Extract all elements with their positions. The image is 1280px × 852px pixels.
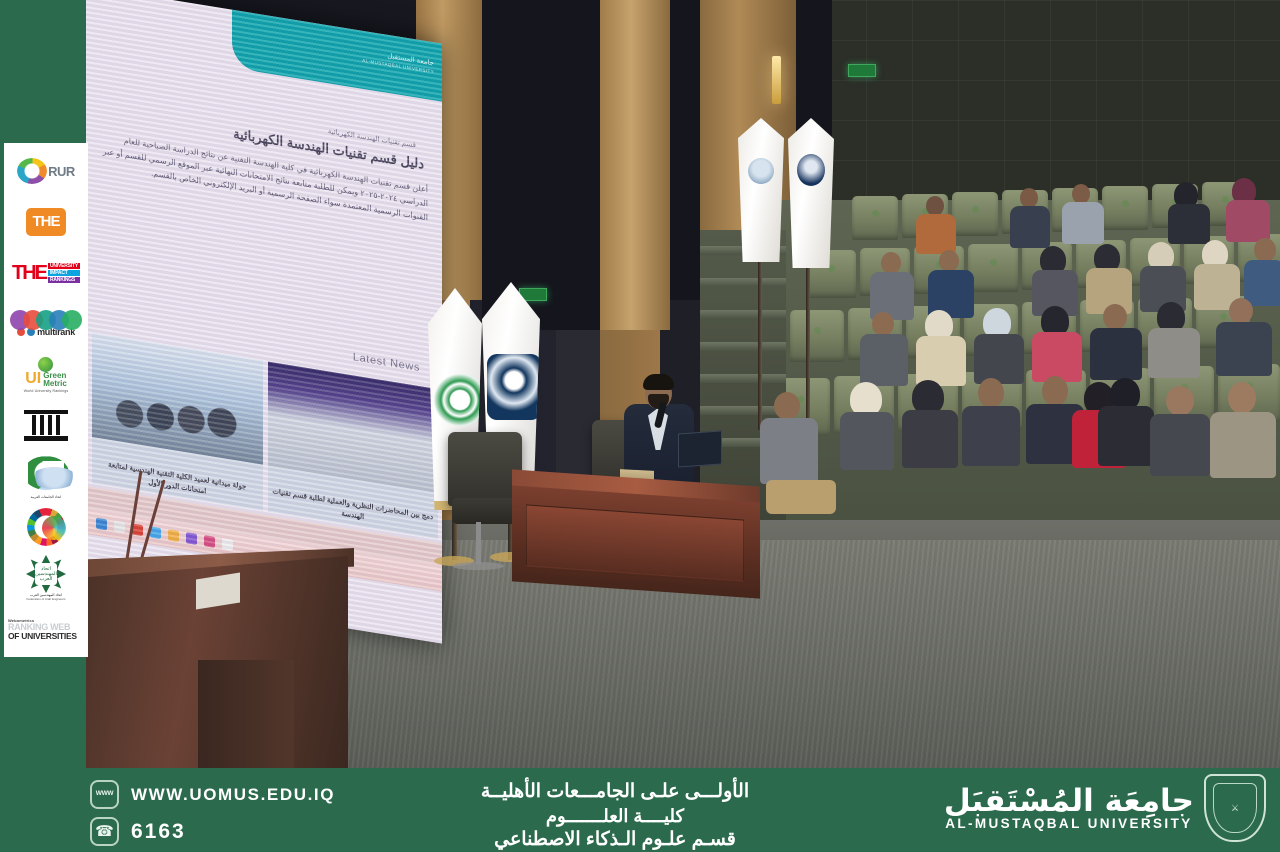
screenshot-root: جامعة المستقبل AL-MUSTAQBAL UNIVERSITY ق… xyxy=(0,0,1280,852)
footer-website-row[interactable]: WWW WWW.UOMUS.EDU.IQ xyxy=(90,780,335,809)
shield-inner-emblem: ⚔ xyxy=(1213,783,1257,833)
stair-step xyxy=(700,278,786,287)
projected-news-card: دمج بين المحاضرات النظرية والعملية لطلبة… xyxy=(268,361,439,539)
seat xyxy=(852,196,898,240)
dark-wall-panel-2 xyxy=(670,0,700,300)
ceremonial-flag-ministry xyxy=(738,118,784,262)
temple-icon xyxy=(24,410,68,441)
arab-engineers-logo: اتحاد المهندسين العرب اتحاد المهندسين ال… xyxy=(7,554,85,602)
the-impact-logo-label: THE xyxy=(12,265,46,281)
vscode-icon xyxy=(96,517,107,530)
footer-phone-label[interactable]: 6163 xyxy=(131,820,186,844)
seat xyxy=(790,310,844,362)
stage-chair-left-stem xyxy=(476,522,481,564)
news-thumbnail xyxy=(92,333,263,465)
podium-column xyxy=(198,660,294,768)
webometrics-line-3: OF UNIVERSITIES xyxy=(8,632,84,641)
impact-line-2: IMPACT xyxy=(48,270,80,276)
wood-panel-center xyxy=(600,0,670,330)
exit-sign-upper xyxy=(848,64,876,77)
ceremonial-flagpole-1 xyxy=(758,250,762,430)
rur-eye-icon xyxy=(17,158,47,184)
classical-temple-logo xyxy=(7,401,85,449)
footer-brand-text: جامِعَة المُسْتَقبَل AL-MUSTAQBAL UNIVER… xyxy=(944,785,1194,831)
seat xyxy=(968,244,1018,292)
footer-bar: WWW WWW.UOMUS.EDU.IQ ☎ 6163 الأولـــى عل… xyxy=(0,768,1280,852)
arab-engineers-monogram: اتحاد المهندسين العرب xyxy=(35,563,57,585)
footer-arabic-line-3: قسـم علـوم الـذكاء الاصطناعي xyxy=(380,828,850,852)
greenmetric-logo: UI Green Metric World University Ranking… xyxy=(7,351,85,399)
seat xyxy=(1102,186,1148,230)
ceremonial-flagpole-2 xyxy=(806,250,810,430)
phone-icon: ☎ xyxy=(90,817,119,846)
impact-line-3: RANKINGS xyxy=(48,277,80,283)
laptop xyxy=(678,430,722,467)
multirank-logo: multirank xyxy=(7,300,85,348)
webometrics-logo: Webometrics RANKING WEB OF UNIVERSITIES xyxy=(7,605,85,653)
the-impact-rankings-logo: THE UNIVERSITY IMPACT RANKINGS xyxy=(7,249,85,297)
projection-screen: جامعة المستقبل AL-MUSTAQBAL UNIVERSITY ق… xyxy=(86,0,442,644)
stair-step xyxy=(700,342,786,351)
stage-chair-left-base xyxy=(452,562,504,570)
impact-line-1: UNIVERSITY xyxy=(48,263,80,269)
arab-universities-caption: اتحاد الجامعات العربية xyxy=(15,495,77,499)
rur-logo-label: RUR xyxy=(48,164,75,179)
footer-arabic-block: الأولـــى علـى الجامـــعات الأهليــة كلي… xyxy=(380,780,850,852)
wreath-inner-emblem xyxy=(31,467,77,489)
folder-icon xyxy=(168,529,179,542)
greenmetric-ui-label: UI xyxy=(25,372,41,386)
rur-logo: RUR xyxy=(7,147,85,195)
footer-website-label[interactable]: WWW.UOMUS.EDU.IQ xyxy=(131,785,335,805)
mail-icon xyxy=(222,538,233,551)
auditorium-carpet xyxy=(300,540,1280,768)
footer-contact-block: WWW WWW.UOMUS.EDU.IQ ☎ 6163 xyxy=(90,780,335,846)
arab-universities-logo: اتحاد الجامعات العربية xyxy=(7,452,85,500)
settings-icon xyxy=(204,535,215,548)
eight-point-star-icon: اتحاد المهندسين العرب xyxy=(26,555,66,593)
the-logo-label: THE xyxy=(26,208,66,236)
sdg-inner-wheel-icon xyxy=(42,516,66,540)
sdg-wheel-logo xyxy=(7,503,85,551)
stair-step xyxy=(700,374,786,383)
green-globe-icon xyxy=(38,357,53,372)
ceremonial-flag-institution xyxy=(788,118,834,268)
footer-brand-english: AL-MUSTAQBAL UNIVERSITY xyxy=(944,816,1194,831)
greenmetric-caption: World University Rankings xyxy=(24,389,69,393)
university-shield-icon: ⚔ xyxy=(1204,774,1266,842)
the-logo: THE xyxy=(7,198,85,246)
seat xyxy=(952,192,998,236)
multirank-rings-icon xyxy=(10,310,82,330)
footer-arabic-line-1: الأولـــى علـى الجامـــعات الأهليــة xyxy=(380,780,850,805)
footer-phone-row[interactable]: ☎ 6163 xyxy=(90,817,335,846)
footer-brand-arabic: جامِعَة المُسْتَقبَل xyxy=(944,785,1194,818)
globe-www-icon: WWW xyxy=(90,780,119,809)
projected-news-card: جولة ميدانية لعميد الكلية التقنية الهندس… xyxy=(92,333,263,511)
projected-latest-news-label: Latest News xyxy=(353,351,420,374)
event-photograph: جامعة المستقبل AL-MUSTAQBAL UNIVERSITY ق… xyxy=(0,0,1280,768)
stair-step xyxy=(700,310,786,319)
dark-wall-panel-1 xyxy=(482,0,600,330)
news-thumbnail xyxy=(268,361,439,493)
accreditation-logo-panel: RUR THE THE UNIVERSITY IMPACT RANKINGS xyxy=(4,143,88,657)
media-icon xyxy=(186,532,197,545)
chrome-icon xyxy=(114,520,125,533)
arab-engineers-caption-en: Federation of Arab Engineers xyxy=(26,597,65,601)
footer-brand-block: جامِعَة المُسْتَقبَل AL-MUSTAQBAL UNIVER… xyxy=(944,774,1266,842)
wall-lamp xyxy=(772,56,781,104)
presenter-hair xyxy=(643,374,674,390)
footer-arabic-line-2: كليــــة العلـــــــوم xyxy=(380,805,850,828)
greenmetric-line-metric: Metric xyxy=(43,380,67,388)
stage-chair-left xyxy=(448,432,522,506)
